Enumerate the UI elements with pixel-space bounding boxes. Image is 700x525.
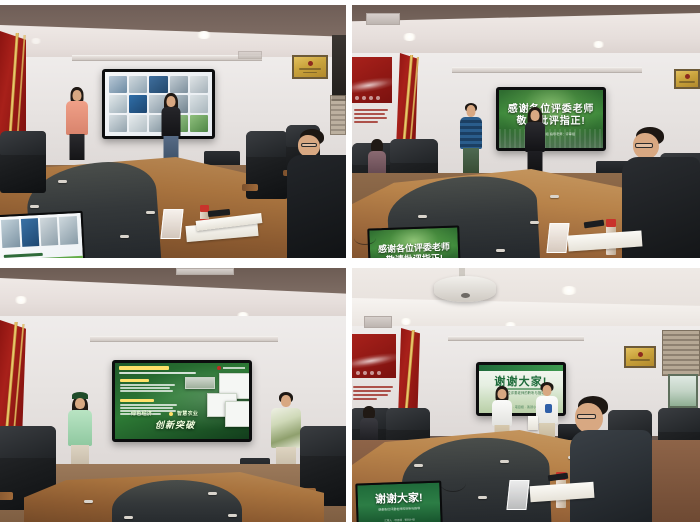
presenter-black <box>156 93 186 165</box>
right-wall-strip <box>332 35 346 101</box>
poster-dots <box>355 96 380 100</box>
ac-vent <box>176 268 234 275</box>
presenter-striped <box>456 103 486 177</box>
downlight <box>402 33 417 41</box>
plaque-seal-icon <box>308 61 313 66</box>
slide-subtitle-bar <box>119 372 196 374</box>
chair-headrest <box>386 408 430 430</box>
table-port <box>414 464 423 467</box>
table-port <box>228 514 237 517</box>
table-port <box>58 180 67 183</box>
slide-section-one <box>120 379 176 393</box>
slide-thumb <box>149 76 167 93</box>
ceiling-projector <box>434 276 496 302</box>
torso <box>460 117 482 149</box>
wall-plaque <box>624 346 656 368</box>
wall-display: 感谢各位评委老师 敬请批评指正! 汇报人：项目组 指导老师：评审组 <box>496 87 606 151</box>
photo-top-right: 感谢各位评委老师 敬请批评指正! 汇报人：项目组 指导老师：评审组 <box>352 5 700 258</box>
slide-pill-right: 智慧农业 <box>177 410 198 417</box>
chair-headrest <box>246 131 288 157</box>
slide-thumb <box>40 217 59 246</box>
torso <box>162 107 181 137</box>
plaque-text-line <box>303 72 317 73</box>
table-port <box>500 460 509 463</box>
body-line <box>120 390 173 392</box>
head <box>531 110 540 121</box>
torso <box>287 155 346 258</box>
wall-poster <box>352 57 392 103</box>
plaque-text-line <box>679 81 694 83</box>
projector-lens-icon <box>461 293 470 298</box>
head <box>167 96 176 107</box>
torso <box>492 400 512 426</box>
body-line <box>120 407 173 409</box>
torso <box>68 410 92 446</box>
table-port <box>418 215 427 218</box>
slide-separator-dot <box>169 412 173 416</box>
wall-display: 绿色经济 智慧农业 创新突破 <box>112 360 252 442</box>
head <box>75 398 85 409</box>
slide-headline: 感谢各位评委老师 敬请批评指正! <box>499 104 603 128</box>
logo-dot-icon <box>217 366 221 370</box>
slide-thumb <box>20 218 39 247</box>
plaque-text-line <box>630 359 650 361</box>
slide-thumb <box>1 219 20 248</box>
photo-top-left <box>0 5 346 258</box>
photo-collage: 感谢各位评委老师 敬请批评指正! 汇报人：项目组 指导老师：评审组 <box>0 0 700 525</box>
plaque-seal-icon <box>685 74 690 79</box>
torso <box>271 408 301 448</box>
chair-headrest <box>390 139 438 163</box>
ceiling-duct <box>448 336 584 341</box>
slide-pill-left: 绿色经济 <box>131 410 152 417</box>
table-port <box>496 249 505 252</box>
slide-thumb <box>109 95 127 112</box>
slide-top-bar <box>479 365 563 371</box>
slide-thumb <box>170 76 188 93</box>
slide-thumb <box>190 95 208 112</box>
head <box>281 395 291 407</box>
wall-poster <box>352 334 396 378</box>
table-port <box>208 492 217 495</box>
body-line <box>120 404 177 406</box>
window <box>668 374 698 408</box>
table-port <box>120 235 129 238</box>
table-port <box>530 221 539 224</box>
display-screen: 绿色经济 智慧农业 创新突破 <box>115 363 249 439</box>
photo-bottom-left: 绿色经济 智慧农业 创新突破 <box>0 268 346 522</box>
presenter-dark <box>520 107 550 179</box>
head <box>73 90 82 101</box>
slide-thumb <box>109 115 127 132</box>
slide-doc-card <box>225 401 249 427</box>
laptop-screen: 感谢各位评委老师 敬请批评指正! <box>367 225 460 258</box>
office-chair <box>0 131 46 193</box>
plaque-text-line <box>299 68 321 70</box>
bottle-cap <box>606 219 616 227</box>
seated-judge <box>288 129 346 258</box>
table-port <box>30 205 39 208</box>
laptop-screen <box>0 211 85 258</box>
body-line <box>120 387 170 389</box>
shirt-graphic <box>545 404 552 413</box>
slide-script-text: 创新突破 <box>155 418 195 431</box>
chair-headrest <box>300 426 346 456</box>
table-port <box>146 211 155 214</box>
cable <box>354 231 376 245</box>
glasses-icon <box>577 414 596 419</box>
slide-thumb <box>129 115 147 132</box>
torso <box>66 101 88 135</box>
window-blinds <box>662 330 700 376</box>
poster-text <box>354 109 388 123</box>
name-card <box>546 223 569 253</box>
ac-vent <box>364 316 392 328</box>
laptop-slide-text: 感谢各位评委老师 敬请批评指正! <box>370 242 459 258</box>
body-line <box>120 384 175 386</box>
photo-bottom-right: 谢谢大家! 感谢各位评委老师的聆听与指导 汇报人 · 项目组 · 答辩小组 <box>352 268 700 522</box>
ac-vent <box>366 13 400 25</box>
downlight <box>400 318 412 325</box>
downlight <box>560 286 578 295</box>
head <box>467 105 476 117</box>
legs <box>70 134 85 160</box>
slide-thumb <box>129 76 147 93</box>
head <box>498 389 507 399</box>
poster-graphic <box>352 349 396 370</box>
chair-headrest <box>0 426 56 458</box>
seated-judge <box>566 396 656 522</box>
torso <box>525 122 545 152</box>
laptop-screen: 谢谢大家! 感谢各位评委老师的聆听与指导 汇报人 · 项目组 · 答辩小组 <box>355 481 442 522</box>
section-heading-bar <box>120 379 149 382</box>
slide-thumb <box>190 76 208 93</box>
table-port <box>84 500 93 503</box>
slide-thumb <box>59 216 78 245</box>
slide-thumb <box>190 115 208 132</box>
laptop-slide-thumbs <box>1 216 78 248</box>
poster-text <box>353 386 393 400</box>
glasses-icon <box>635 143 653 148</box>
ceiling-duct <box>90 336 278 342</box>
slide-subtitle: 汇报人：项目组 指导老师：评审组 <box>499 132 603 136</box>
downlight <box>30 38 42 44</box>
ceiling-duct <box>452 67 642 73</box>
plaque-seal-icon <box>638 352 643 357</box>
table-port <box>550 195 559 198</box>
cable <box>440 474 466 492</box>
chair-headrest <box>658 408 700 432</box>
slide-thumb <box>109 76 127 93</box>
table-port <box>478 496 487 499</box>
slide-header <box>119 366 209 374</box>
office-chair <box>246 131 288 199</box>
slide-logo <box>217 366 245 370</box>
presenter-laptop: 谢谢大家! 感谢各位评委老师的聆听与指导 汇报人 · 项目组 · 答辩小组 <box>355 481 442 522</box>
slide-thumb <box>129 95 147 112</box>
name-card <box>506 480 529 510</box>
slide-doc-card <box>185 377 215 389</box>
poster-graphic <box>352 74 392 95</box>
poster-dots <box>356 371 381 375</box>
downlight <box>14 296 28 304</box>
glasses-icon <box>301 143 317 147</box>
slide-title-bar <box>119 366 169 370</box>
ac-vent <box>238 51 262 59</box>
downlight <box>592 41 605 48</box>
presenter-pink <box>62 87 92 159</box>
torso <box>570 430 652 522</box>
section-heading-bar <box>120 399 154 402</box>
head <box>543 385 552 396</box>
downlight <box>196 31 212 39</box>
name-card <box>160 209 183 239</box>
wall-plaque <box>674 69 700 89</box>
presenter-laptop <box>0 211 85 258</box>
presenter-laptop: 感谢各位评委老师 敬请批评指正! <box>367 225 460 258</box>
table-port <box>124 516 133 519</box>
wall-plaque <box>292 55 328 79</box>
chair-headrest <box>0 131 46 155</box>
held-notes <box>528 416 538 430</box>
display-screen: 感谢各位评委老师 敬请批评指正! 汇报人：项目组 指导老师：评审组 <box>499 90 603 148</box>
ceiling-duct <box>72 55 262 61</box>
